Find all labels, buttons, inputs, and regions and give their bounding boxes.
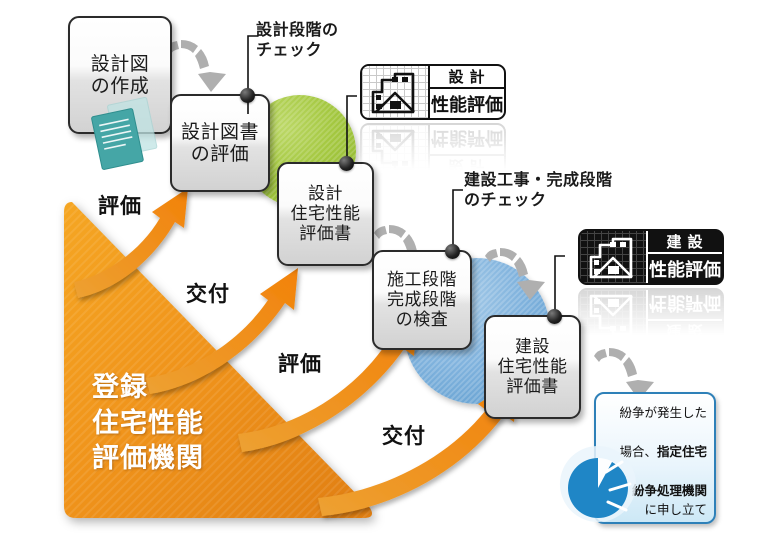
house-grid-icon xyxy=(362,66,430,118)
callout-dot-construction-mark xyxy=(547,309,562,324)
design-mark-bottom-text: 性能評価 xyxy=(430,89,504,118)
box-construction-inspection[interactable]: 施工段階 完成段階 の検査 xyxy=(372,250,472,350)
box-design-certificate-label: 設計 住宅性能 評価書 xyxy=(291,184,361,244)
callout-dot-design-mark xyxy=(339,156,354,171)
callout-dot-design-stage xyxy=(240,88,255,103)
leader-line-design-mark xyxy=(337,82,357,158)
callout-design-stage-check: 設計段階の チェック xyxy=(256,20,339,61)
box-construction-certificate[interactable]: 建設 住宅性能 評価書 xyxy=(484,315,581,419)
callout-dot-construction-stage xyxy=(445,244,460,259)
blue-pie-chart-icon xyxy=(552,438,644,530)
document-pages-icon xyxy=(84,96,170,176)
leader-line-design-stage xyxy=(238,22,258,118)
callout-construction-stage-check: 建設工事・完成段階 のチェック xyxy=(464,170,613,211)
construction-mark-bottom-text: 性能評価 xyxy=(648,254,722,283)
dispute-line-1: 紛争が発生した xyxy=(603,403,707,422)
box-construction-certificate-label: 建設 住宅性能 評価書 xyxy=(498,337,568,397)
design-mark-top-text: 設計 xyxy=(430,66,504,89)
construction-mark-top-text: 建設 xyxy=(648,231,722,254)
box-construction-inspection-label: 施工段階 完成段階 の検査 xyxy=(387,270,457,330)
design-evaluation-mark: 設計 性能評価 xyxy=(360,64,506,179)
diagram-canvas: 登録 住宅性能 評価機関 登録 住宅性能 評価機関 xyxy=(0,0,770,538)
arrow-label-eval-2: 評価 xyxy=(278,348,322,378)
leader-line-construction-mark xyxy=(545,242,565,318)
arrow-label-eval-1: 評価 xyxy=(98,190,142,220)
box-design-document-evaluation-label: 設計図書 の評価 xyxy=(181,121,259,166)
construction-mark-reflection: 建設 性能評価 xyxy=(578,288,724,344)
house-grid-icon xyxy=(580,231,648,283)
arrow-label-issue-1: 交付 xyxy=(186,278,230,308)
arrow-label-issue-2: 交付 xyxy=(382,420,426,450)
box-design-drawing-label: 設計図 の作成 xyxy=(91,53,150,98)
construction-evaluation-mark: 建設 性能評価 xyxy=(578,229,724,344)
dispute-line-2-bold: 指定住宅 xyxy=(657,444,707,459)
org-label: 登録 住宅性能 評価機関 xyxy=(92,370,204,477)
